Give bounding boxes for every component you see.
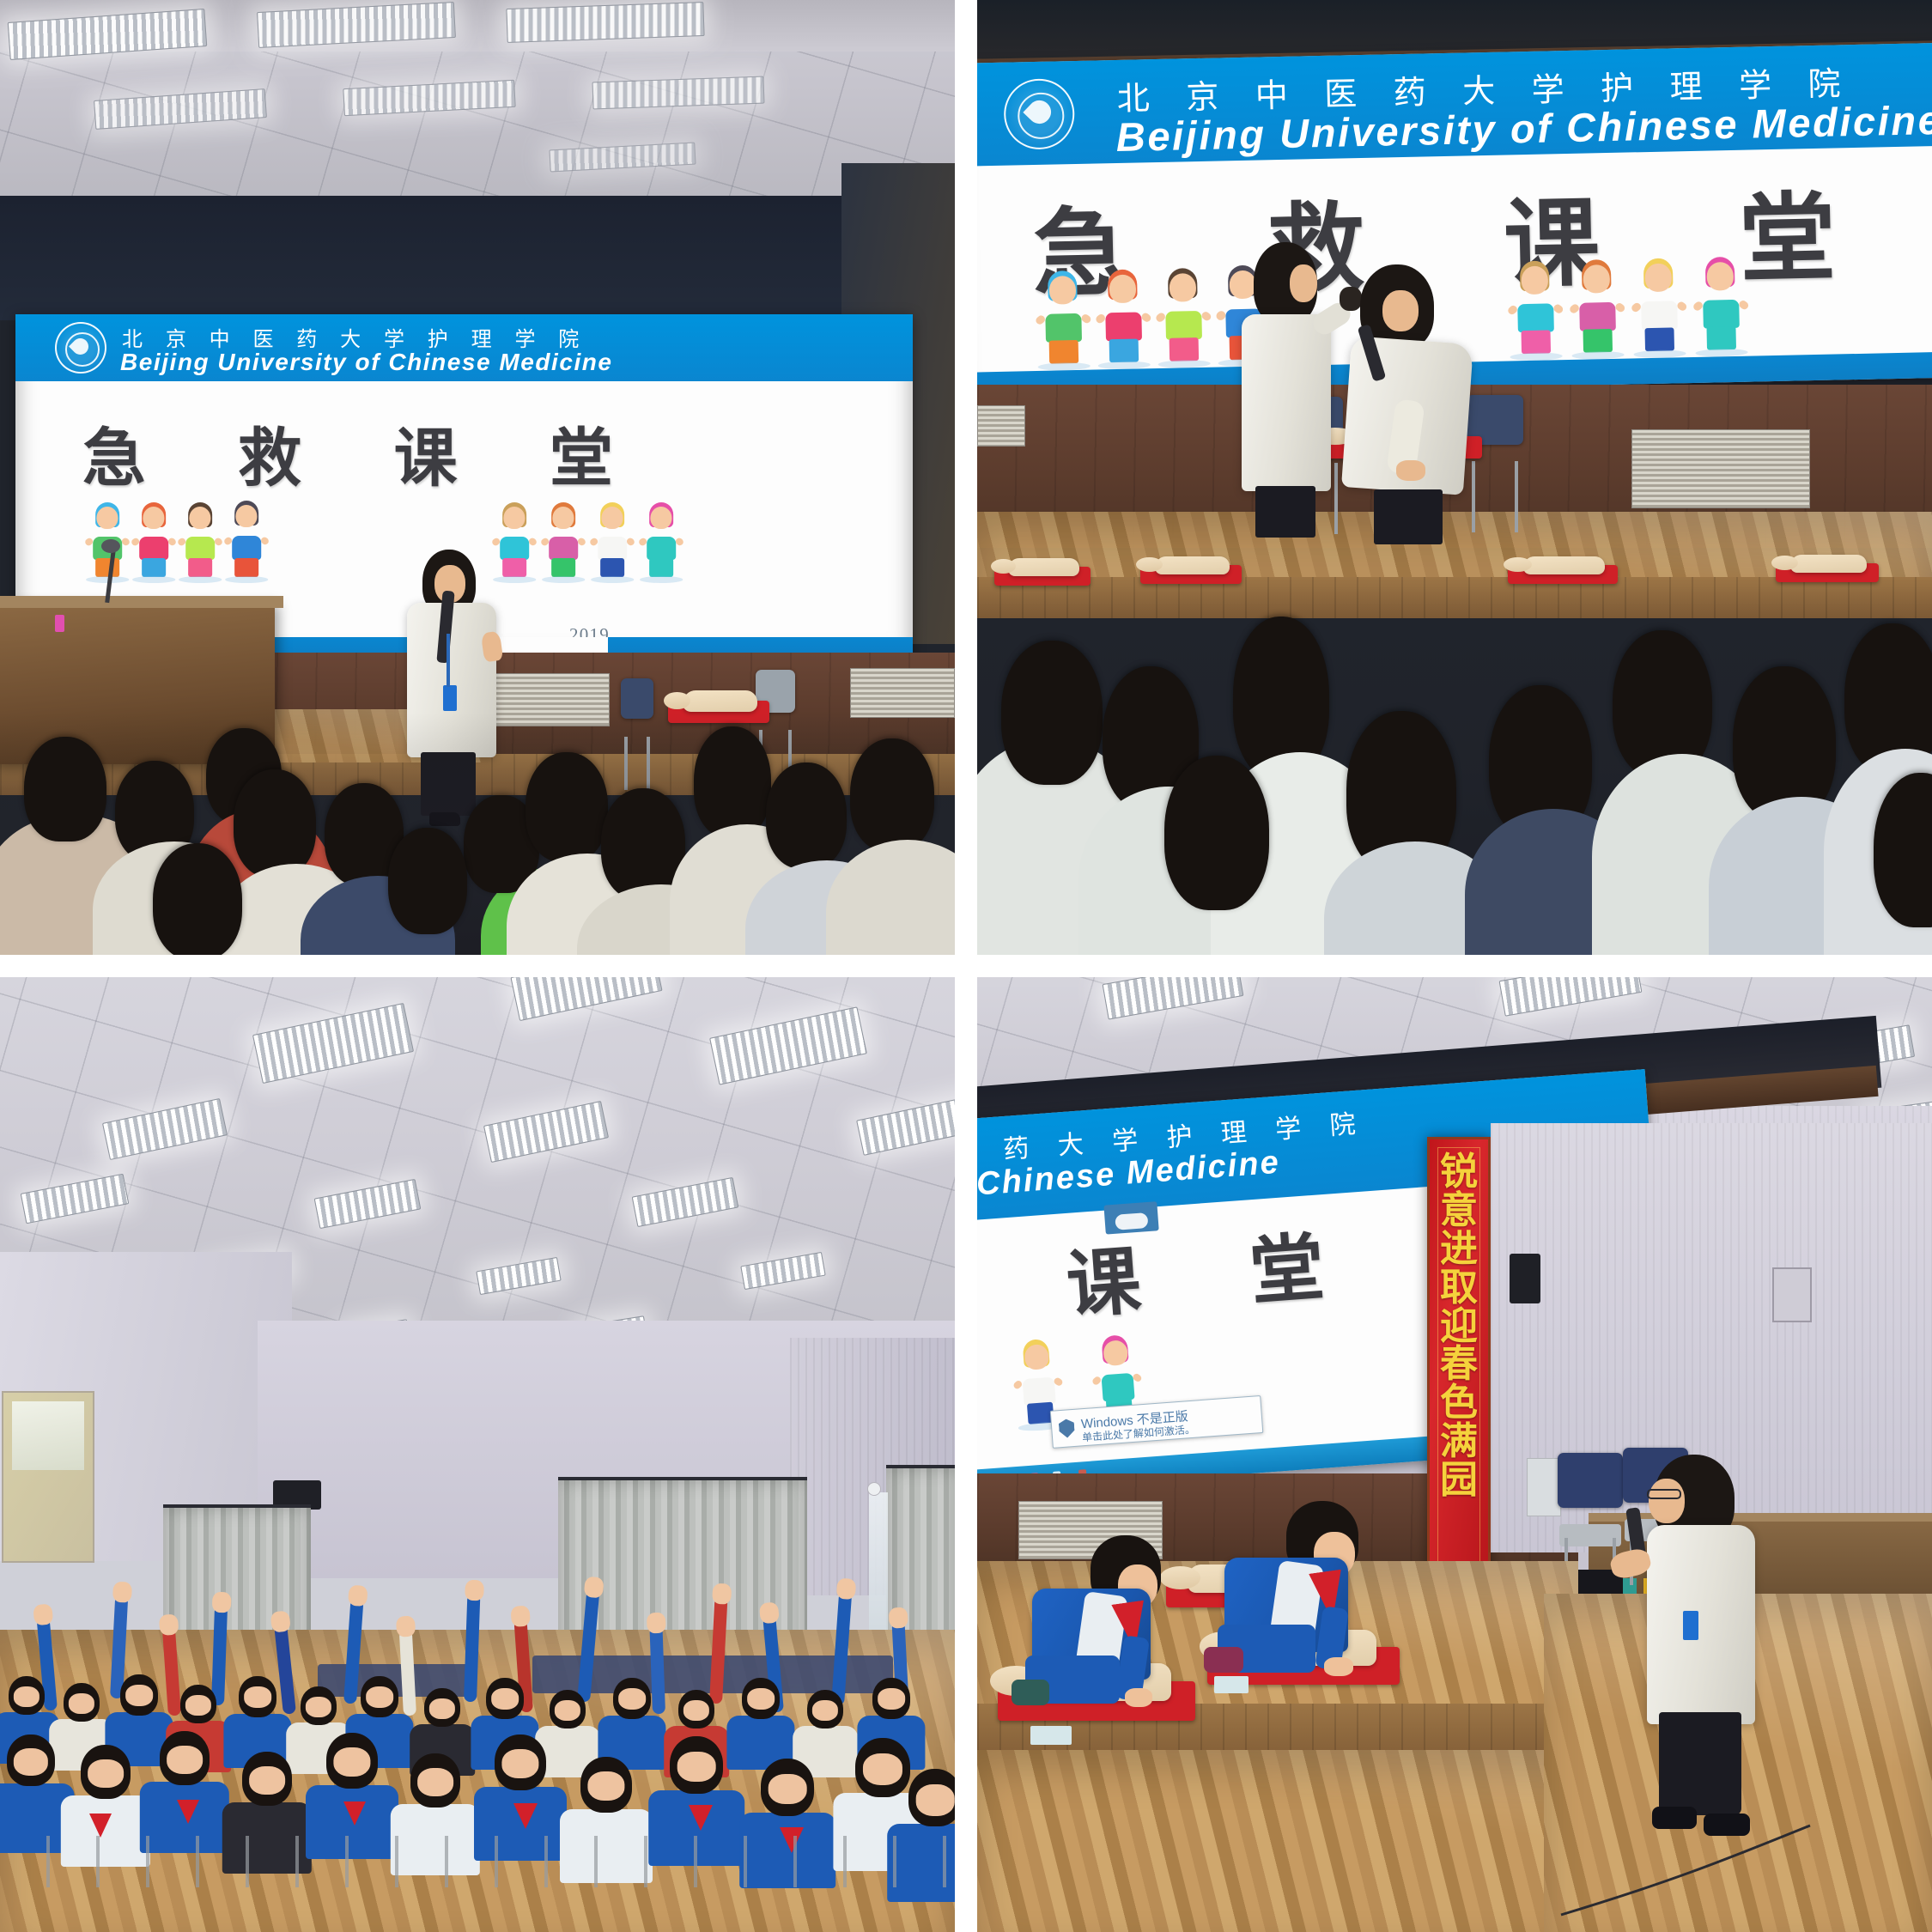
instructor-face [1382, 290, 1419, 331]
student-face [333, 1747, 370, 1777]
manikin-face-shield-pack [1030, 1726, 1072, 1745]
cartoon-kid [1100, 274, 1146, 364]
seated-student [160, 1731, 210, 1786]
seated-student [855, 1738, 910, 1798]
cartoon-kid [1636, 263, 1682, 353]
kid-pants [551, 558, 575, 577]
student-face [618, 1688, 646, 1710]
wall-panel-box [1772, 1267, 1812, 1322]
kid-shadow [542, 576, 585, 583]
windows-shield-icon [1059, 1419, 1076, 1438]
instructor-face [1290, 264, 1317, 302]
raised-hand [712, 1583, 732, 1605]
wall-notice [1527, 1458, 1561, 1516]
student-face [88, 1759, 124, 1788]
raised-hand [395, 1616, 415, 1637]
slide-banner-chinese: 北 京 中 医 药 大 学 护 理 学 院 [122, 322, 587, 352]
kid-head [143, 507, 164, 529]
kid-shirt [500, 537, 529, 560]
cartoon-kid [594, 507, 630, 579]
student-practising-cpr [1209, 1501, 1406, 1685]
seated-student [761, 1759, 814, 1817]
kid-arm [120, 537, 131, 547]
kid-pants [95, 558, 119, 577]
panel-top-right: 北 京 中 医 药 大 学 护 理 学 院 Beijing University… [977, 0, 1932, 955]
slide-pointer-mark-inner [1115, 1212, 1148, 1230]
raised-hand [646, 1613, 665, 1634]
wall-vent [850, 668, 955, 718]
manikin-torso [1523, 556, 1605, 574]
student-face [878, 1688, 905, 1710]
kid-pants [188, 558, 212, 577]
student-face [863, 1753, 902, 1784]
kid-arm [1053, 1376, 1064, 1388]
student-face [14, 1748, 48, 1776]
student-face [747, 1688, 775, 1710]
student-face [587, 1771, 624, 1801]
student-shoe [1204, 1647, 1243, 1673]
kid-shirt [232, 536, 261, 560]
kid-arm [167, 537, 177, 547]
lectern-top [0, 596, 283, 608]
upper-dark-wall [0, 196, 955, 320]
kid-shirt [598, 537, 627, 560]
seated-student [908, 1769, 955, 1829]
raised-hand [347, 1585, 368, 1607]
student-face [677, 1752, 716, 1782]
panel-top-left: 北 京 中 医 药 大 学 护 理 学 院 Beijing University… [0, 0, 955, 955]
raised-hand [158, 1614, 179, 1636]
kid-head [189, 507, 210, 529]
kid-pants [1583, 329, 1613, 353]
door-glass [12, 1401, 84, 1470]
cartoon-kid [1512, 265, 1558, 355]
slide-header-band: 北 京 中 医 药 大 学 护 理 学 院 Beijing University… [15, 314, 913, 381]
kid-pants [1706, 326, 1736, 350]
cpr-manikin [1140, 565, 1242, 584]
student-face [417, 1768, 453, 1796]
kid-pants [600, 558, 624, 577]
cartoon-kid [1160, 273, 1206, 363]
raised-hand [510, 1606, 531, 1627]
microphone-cable [1527, 1819, 1819, 1922]
kid-head [1706, 262, 1734, 290]
cartoon-kid [228, 505, 264, 579]
kid-head [235, 505, 257, 527]
raised-hand [270, 1611, 290, 1633]
student-face [69, 1693, 94, 1714]
seated-crowd-front [0, 1717, 955, 1932]
kid-head [1170, 273, 1197, 301]
chair-leg [1515, 461, 1518, 532]
audience-head [1164, 756, 1269, 910]
instructor-lab-coat [1647, 1525, 1755, 1724]
kid-head [503, 507, 525, 529]
kid-shadow [225, 576, 268, 583]
kid-head [601, 507, 623, 529]
instructor-face [1649, 1479, 1685, 1523]
student-face [306, 1697, 331, 1717]
instructor-standing [1223, 242, 1352, 543]
kid-shirt [185, 537, 215, 560]
seated-student [670, 1736, 723, 1795]
manikin-torso [683, 690, 757, 712]
kid-head [1521, 266, 1548, 295]
kid-shadow [179, 576, 222, 583]
instructor-hands [1396, 460, 1425, 481]
university-seal-logo [55, 322, 106, 374]
kid-head [1103, 1340, 1128, 1366]
kid-shirt [1579, 302, 1615, 331]
cpr-manikin [1776, 563, 1879, 582]
student-face [125, 1685, 153, 1706]
instructor-glasses-icon [1647, 1489, 1681, 1499]
instructor-id-badge [1683, 1611, 1698, 1640]
instructor-demonstrating [1340, 264, 1511, 556]
kid-head [552, 507, 574, 529]
seated-student [326, 1733, 378, 1789]
kid-pants [649, 558, 673, 577]
manikin-torso [1008, 558, 1079, 576]
kid-head [1583, 264, 1610, 293]
audience-head [24, 737, 106, 841]
audience-head [694, 726, 771, 838]
student-face [769, 1774, 807, 1804]
kid-shirt [549, 537, 578, 560]
windows-activation-balloon[interactable]: Windows 不是正版 单击此处了解如何激活。 [1050, 1395, 1264, 1449]
slide-header-band: 北 京 中 医 药 大 学 护 理 学 院 Beijing University… [977, 42, 1932, 167]
cpr-manikin [994, 567, 1091, 586]
seated-student [361, 1676, 398, 1717]
student-face [366, 1686, 393, 1708]
slide-title: 急 救 课 堂 [977, 1203, 1373, 1359]
kid-shadow [640, 576, 683, 583]
seated-student [872, 1678, 910, 1719]
student-face [167, 1746, 203, 1774]
cartoon-kid [643, 507, 679, 579]
audience-head [153, 843, 242, 955]
instructor-lab-coat [1242, 314, 1331, 491]
student-shoe [1012, 1680, 1049, 1705]
seated-student [7, 1735, 55, 1788]
kid-arm [674, 537, 684, 547]
cartoon-kid [136, 507, 172, 579]
university-seal-logo [1003, 78, 1075, 150]
raised-hand [835, 1578, 856, 1600]
wall-vent [1631, 429, 1810, 508]
audience-head [526, 752, 608, 862]
kid-head [96, 507, 118, 529]
kid-arm [1132, 1373, 1143, 1384]
seated-student [239, 1676, 276, 1717]
audience-head [766, 762, 847, 869]
student-hand [1125, 1688, 1152, 1707]
kid-head [650, 507, 671, 529]
kid-shirt [1165, 311, 1201, 340]
audience-head [850, 738, 934, 852]
kid-shirt [1517, 303, 1553, 332]
raised-hand [758, 1602, 779, 1625]
seated-student [9, 1676, 45, 1716]
raised-hand [211, 1592, 231, 1613]
cartoon-kid [182, 507, 218, 579]
cartoon-kid [1574, 264, 1620, 355]
seated-student [613, 1678, 651, 1719]
student-face [244, 1686, 271, 1708]
student-hand [1324, 1657, 1353, 1676]
raised-hand [583, 1577, 604, 1599]
audience-head [234, 769, 316, 878]
kid-arm [259, 536, 270, 546]
audience-head [1001, 641, 1103, 785]
seated-student [580, 1757, 632, 1814]
kid-shadow [132, 576, 175, 583]
kid-head [1049, 276, 1077, 304]
student-face [501, 1749, 538, 1778]
cpr-manikin [1508, 565, 1618, 584]
manikin-torso [1155, 556, 1230, 574]
instructor-skirt [1659, 1712, 1741, 1815]
kid-arm [625, 537, 635, 547]
kid-shirt [647, 537, 676, 560]
instructor-supervising [1609, 1455, 1798, 1858]
slide-banner-english: Beijing University of Chinese Medicine [120, 349, 613, 376]
kid-pants [1049, 340, 1079, 364]
cartoon-kid [1698, 262, 1744, 352]
red-couplet-banner: 锐意进取 迎春色满园 [1427, 1137, 1491, 1618]
kid-arm [527, 537, 538, 547]
seated-student [242, 1752, 292, 1807]
raised-hand [888, 1607, 908, 1629]
kid-shirt [1641, 301, 1677, 330]
photo-collage: 北 京 中 医 药 大 学 护 理 学 院 Beijing University… [0, 0, 1932, 1932]
kid-shadow [591, 576, 634, 583]
podium-indicator-light [55, 615, 64, 632]
couplet-text: 锐意进取 迎春色满园 [1438, 1153, 1479, 1500]
instructor-trousers [1374, 489, 1443, 544]
cartoon-kid [1040, 276, 1086, 366]
kid-shirt [1045, 313, 1081, 343]
seated-student [120, 1674, 158, 1716]
audience-head [388, 828, 467, 934]
lecturer-lanyard [447, 634, 450, 687]
kid-arm [213, 537, 223, 547]
kid-arm [576, 537, 586, 547]
wall-vent [977, 405, 1025, 447]
manikin-head [991, 559, 1016, 574]
kid-pants [142, 558, 166, 577]
kid-pants [1170, 337, 1200, 361]
raised-hand [112, 1582, 131, 1603]
kid-pants [234, 558, 258, 577]
kid-shirt [1105, 312, 1141, 341]
kid-pants [502, 558, 526, 577]
chair-legs-row [0, 1836, 955, 1887]
kid-shirt [139, 537, 168, 560]
kid-pants [1522, 330, 1552, 354]
seated-student [410, 1753, 460, 1808]
seated-student [81, 1745, 131, 1800]
slide-title: 急 救 课 堂 [82, 407, 651, 499]
student-face [249, 1766, 285, 1795]
manikin-torso [1790, 555, 1867, 573]
seated-student [495, 1735, 546, 1791]
student-face [429, 1698, 455, 1719]
kid-head [1644, 263, 1672, 291]
student-practising-cpr [1018, 1535, 1207, 1716]
raised-hand [33, 1604, 53, 1626]
kid-pants [1644, 327, 1674, 351]
audience-area [977, 584, 1932, 955]
panel-bottom-right: 北 京 中 医 药 大 学 护 理 学 院 Beijing University… [977, 977, 1932, 1932]
student-face [491, 1688, 519, 1710]
wall-speaker [1510, 1254, 1540, 1303]
seated-student [486, 1678, 524, 1719]
student-face [185, 1695, 211, 1716]
audience-area [0, 713, 955, 955]
kid-pants [1109, 338, 1139, 362]
lecturer-id-badge [443, 685, 457, 711]
seated-student [742, 1678, 780, 1719]
kid-shirt [1703, 300, 1739, 329]
microphone-head-icon [101, 539, 120, 553]
wall-clock [867, 1482, 881, 1496]
raised-hand [465, 1580, 484, 1601]
student-face [916, 1784, 955, 1815]
kid-head [1024, 1344, 1049, 1370]
lecturer-hand-raised [481, 631, 504, 663]
panel-bottom-left [0, 977, 955, 1932]
instructor-trousers [1255, 486, 1315, 538]
cartoon-kid [545, 507, 581, 579]
student-face [14, 1686, 39, 1707]
ceiling-lamp-icon [506, 2, 704, 43]
kid-head [1109, 275, 1137, 303]
manikin-head [664, 692, 690, 709]
